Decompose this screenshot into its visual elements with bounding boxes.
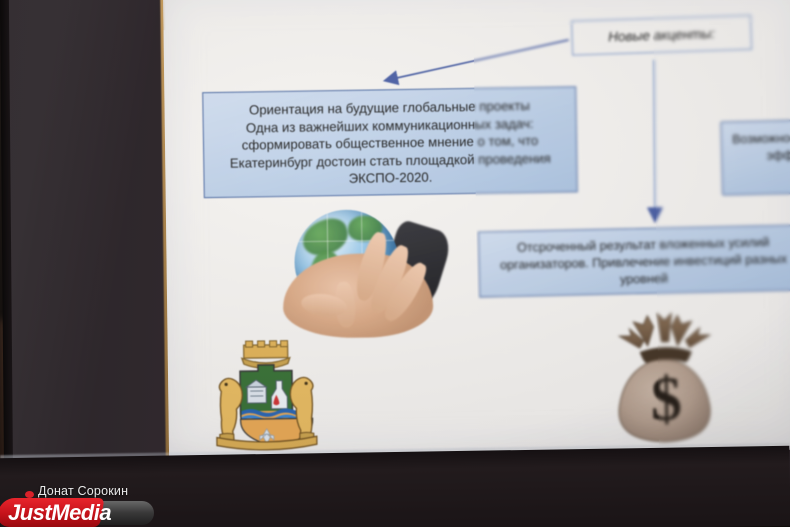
- box-investments[interactable]: Отсроченный результат вложенных усилий о…: [478, 224, 790, 297]
- money-bag-ruffle: [619, 313, 709, 348]
- money-bag-image: $: [605, 311, 727, 453]
- box-effect-line-1: Возможно: [732, 131, 790, 146]
- logo-wordmark: JustMedia: [8, 501, 111, 525]
- dollar-sign-icon: $: [650, 365, 682, 433]
- logo-word-just: Just: [8, 500, 51, 525]
- photographer-credit: Донат Сорокин: [38, 484, 128, 498]
- box-main-message[interactable]: Ориентация на будущие глобальные проекты…: [202, 86, 578, 198]
- hand-holding-globe-image: [274, 207, 441, 341]
- presentation-slide: …ти Екатеринбурга – крупнейшее социально…: [163, 0, 790, 458]
- box-effect-line-3: эффек: [766, 148, 790, 163]
- yekaterinburg-coat-of-arms: [206, 336, 328, 456]
- justmedia-logo[interactable]: JustMedia: [0, 499, 160, 527]
- coa-bear-supporter: [219, 378, 243, 441]
- box-new-accents[interactable]: Новые акценты:: [571, 15, 752, 56]
- photo-canvas: …ти Екатеринбурга – крупнейшее социально…: [0, 0, 790, 527]
- logo-word-media: Media: [51, 500, 111, 525]
- monitor-screen[interactable]: …ти Екатеринбурга – крупнейшее социально…: [163, 0, 790, 458]
- watermark-dot-icon: [25, 491, 34, 498]
- box-investments-line-1: Отсроченный результат вложенных: [517, 236, 725, 255]
- arrow-accents-to-main: [386, 40, 569, 80]
- box-new-accents-label: Новые акценты:: [608, 26, 715, 44]
- box-effect-clipped[interactable]: Возможно получит эффек: [720, 119, 790, 196]
- box-investments-line-3: Привлечение инвестиций разных уровней: [592, 252, 787, 287]
- arrow-accents-to-invest: [653, 60, 656, 220]
